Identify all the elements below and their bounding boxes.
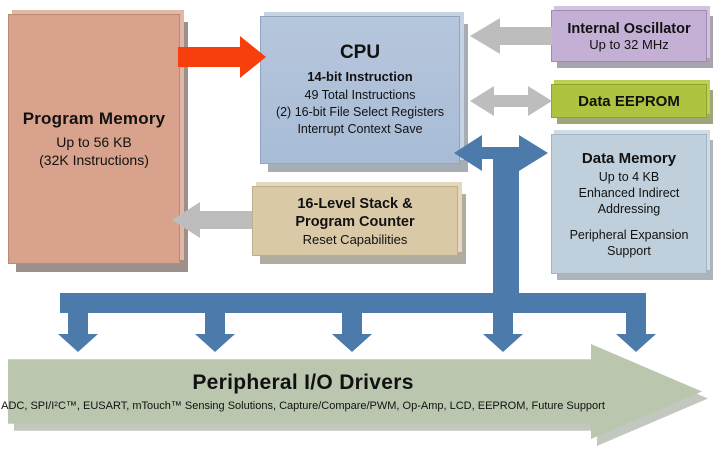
internal-oscillator-to-cpu-arrow [470, 18, 552, 54]
block-internal-oscillator[interactable]: Internal Oscillator Up to 32 MHz [551, 10, 707, 62]
program-memory-capacity: Up to 56 KB [56, 133, 132, 151]
program-memory-instructions: (32K Instructions) [39, 151, 149, 169]
cpu-instruction-count: 49 Total Instructions [305, 87, 416, 104]
data-eeprom-title: Data EEPROM [578, 93, 680, 110]
data-memory-peripheral-expansion-1: Peripheral Expansion [570, 227, 689, 243]
program-memory-title: Program Memory [23, 109, 166, 129]
cpu-to-data-eeprom-arrow [470, 86, 552, 116]
data-memory-capacity: Up to 4 KB [599, 169, 659, 185]
peripheral-io-feature-list: ADC, SPI/I²C™, EUSART, mTouch™ Sensing S… [1, 400, 605, 412]
block-stack-program-counter[interactable]: 16-Level Stack & Program Counter Reset C… [252, 186, 458, 256]
internal-oscillator-title: Internal Oscillator [567, 21, 690, 37]
block-data-memory[interactable]: Data Memory Up to 4 KB Enhanced Indirect… [551, 134, 707, 274]
cpu-to-data-memory-bus [454, 135, 548, 307]
cpu-interrupt-context-save: Interrupt Context Save [297, 121, 422, 138]
cpu-file-select-registers: (2) 16-bit File Select Registers [276, 104, 444, 121]
data-memory-indirect-addressing-2: Addressing [598, 201, 661, 217]
data-memory-peripheral-expansion-2: Support [607, 243, 651, 259]
block-program-memory[interactable]: Program Memory Up to 56 KB (32K Instruct… [8, 14, 180, 264]
data-memory-indirect-addressing-1: Enhanced Indirect [579, 185, 680, 201]
stack-reset-capabilities: Reset Capabilities [303, 231, 408, 248]
block-diagram-canvas: Program Memory Up to 56 KB (32K Instruct… [0, 0, 715, 453]
program-memory-to-cpu-arrow [178, 36, 266, 78]
internal-oscillator-frequency: Up to 32 MHz [589, 37, 668, 52]
block-peripheral-io-drivers[interactable]: Peripheral I/O Drivers ADC, SPI/I²C™, EU… [8, 344, 708, 446]
block-cpu[interactable]: CPU 14-bit Instruction 49 Total Instruct… [260, 16, 460, 164]
data-memory-title: Data Memory [582, 150, 676, 167]
stack-title-line2: Program Counter [295, 213, 414, 231]
peripheral-io-text: Peripheral I/O Drivers ADC, SPI/I²C™, EU… [8, 344, 598, 439]
cpu-instruction-width: 14-bit Instruction [307, 69, 412, 84]
cpu-title: CPU [340, 42, 380, 64]
peripheral-io-title: Peripheral I/O Drivers [192, 371, 413, 395]
stack-title-line1: 16-Level Stack & [297, 195, 412, 213]
block-data-eeprom[interactable]: Data EEPROM [551, 84, 707, 118]
